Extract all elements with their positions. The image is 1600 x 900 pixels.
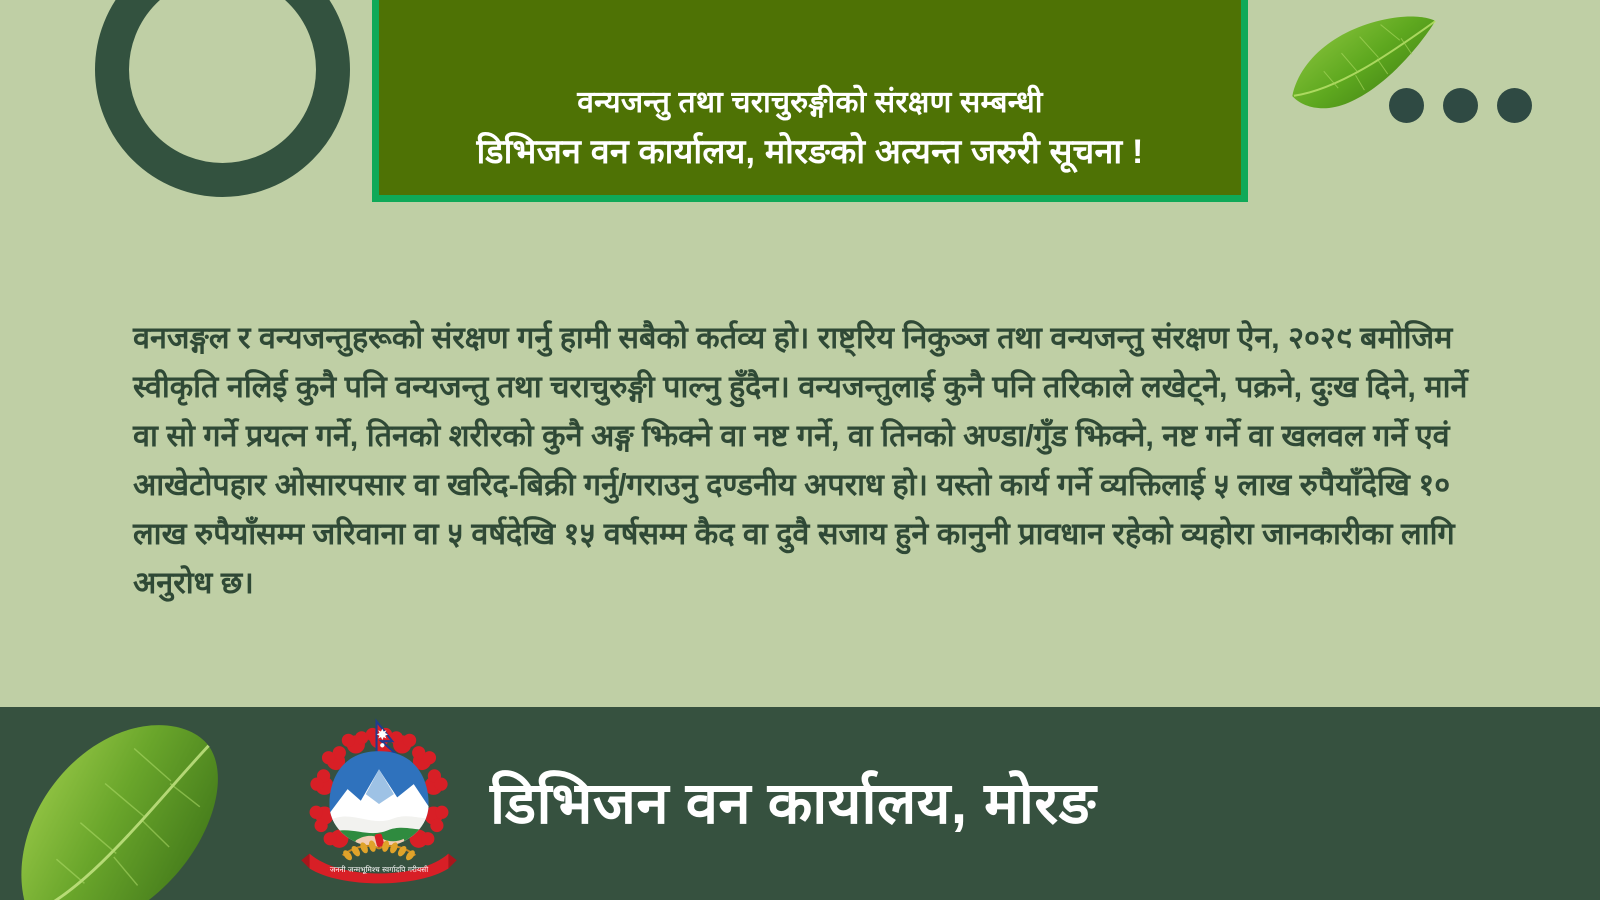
dot-icon: [1389, 88, 1424, 123]
decorative-dots: [1389, 88, 1532, 123]
footer-office-name: डिभिजन वन कार्यालय, मोरङ: [490, 775, 1096, 833]
footer-band: जननी जन्मभूमिश्च स्वर्गादपि गरीयसी डिभिज…: [0, 707, 1600, 900]
dot-icon: [1497, 88, 1532, 123]
emblem-motto-text: जननी जन्मभूमिश्च स्वर्गादपि गरीयसी: [330, 864, 429, 874]
notice-header-box: वन्यजन्तु तथा चराचुरुङ्गीको संरक्षण सम्ब…: [372, 0, 1248, 202]
dot-icon: [1443, 88, 1478, 123]
notice-paragraph: वनजङ्गल र वन्यजन्तुहरूको संरक्षण गर्नु ह…: [133, 314, 1483, 608]
decorative-ring: [95, 0, 350, 197]
leaf-icon-bottom-left: [0, 707, 276, 900]
notice-subtitle: वन्यजन्तु तथा चराचुरुङ्गीको संरक्षण सम्ब…: [577, 85, 1042, 122]
notice-body: वनजङ्गल र वन्यजन्तुहरूको संरक्षण गर्नु ह…: [133, 283, 1483, 638]
poster-canvas: वन्यजन्तु तथा चराचुरुङ्गीको संरक्षण सम्ब…: [0, 0, 1600, 900]
footer-content: जननी जन्मभूमिश्च स्वर्गादपि गरीयसी डिभिज…: [296, 707, 1096, 900]
nepal-emblem-icon: जननी जन्मभूमिश्च स्वर्गादपि गरीयसी: [296, 718, 462, 890]
notice-title: डिभिजन वन कार्यालय, मोरङको अत्यन्त जरुरी…: [476, 132, 1143, 173]
